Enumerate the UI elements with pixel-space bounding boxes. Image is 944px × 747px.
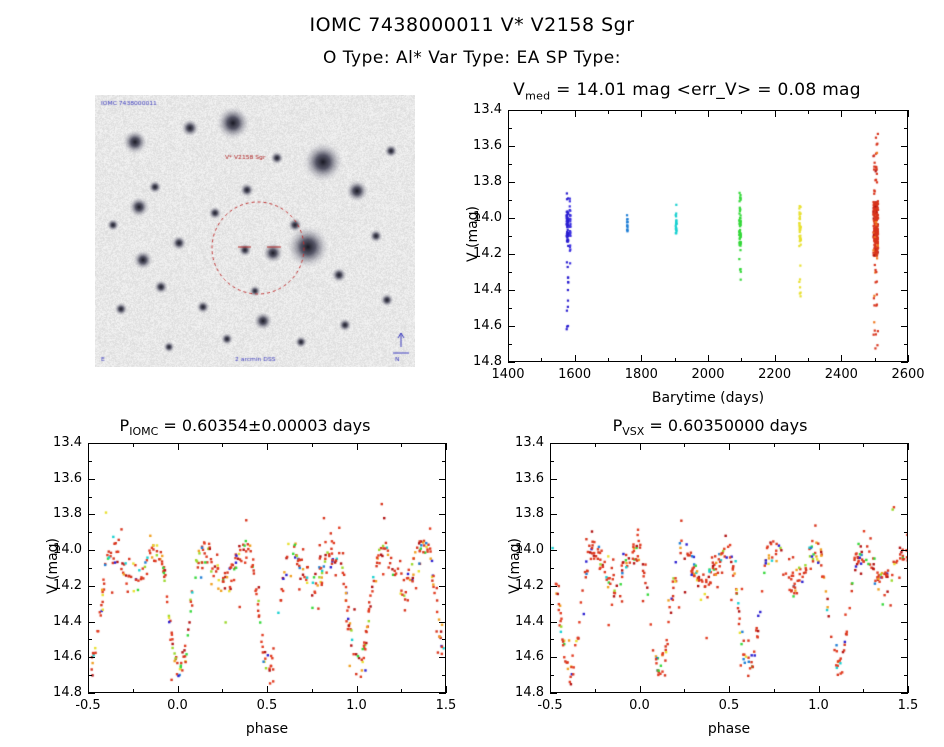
x-tick (88, 686, 89, 693)
x-tick-label: 2600 (878, 367, 938, 382)
y-minor-tick (550, 639, 554, 640)
phase-vsx-plot (550, 443, 908, 693)
y-tick (439, 550, 446, 551)
y-tick (901, 514, 908, 515)
y-tick (901, 693, 908, 694)
lightcurve-plot (508, 110, 908, 362)
y-tick-label: 14.6 (502, 649, 544, 664)
y-minor-tick (508, 344, 512, 345)
x-minor-tick (675, 110, 676, 114)
x-tick (446, 686, 447, 693)
y-tick (439, 479, 446, 480)
y-minor-tick (904, 236, 908, 237)
y-tick (88, 479, 95, 480)
x-minor-tick (675, 358, 676, 362)
x-minor-tick (595, 689, 596, 693)
x-tick (641, 110, 642, 117)
y-tick (901, 443, 908, 444)
y-tick (550, 657, 557, 658)
y-minor-tick (442, 497, 446, 498)
x-tick (775, 355, 776, 362)
y-minor-tick (904, 461, 908, 462)
y-tick-label: 14.6 (40, 649, 82, 664)
y-tick (439, 693, 446, 694)
y-tick (901, 254, 908, 255)
x-minor-tick (312, 689, 313, 693)
y-tick (901, 326, 908, 327)
y-minor-tick (904, 308, 908, 309)
x-tick (640, 686, 641, 693)
y-tick-label: 14.8 (460, 354, 502, 369)
x-tick (729, 686, 730, 693)
vmed-subscript: med (525, 89, 550, 102)
y-tick (901, 362, 908, 363)
x-axis-label: Barytime (days) (508, 390, 908, 406)
x-minor-tick (863, 689, 864, 693)
y-minor-tick (550, 497, 554, 498)
y-tick (508, 182, 515, 183)
x-tick (178, 443, 179, 450)
y-minor-tick (88, 568, 92, 569)
y-minor-tick (508, 272, 512, 273)
x-tick-label: 2000 (678, 367, 738, 382)
x-minor-tick (684, 443, 685, 447)
y-tick-label: 13.4 (460, 102, 502, 117)
y-minor-tick (904, 344, 908, 345)
y-minor-tick (442, 532, 446, 533)
period-iomc-value: = 0.60354±0.00003 days (158, 416, 370, 435)
x-tick (575, 110, 576, 117)
y-tick (550, 586, 557, 587)
y-tick-label: 13.6 (460, 138, 502, 153)
x-tick (908, 686, 909, 693)
y-tick (901, 657, 908, 658)
period-iomc-subscript: IOMC (129, 425, 158, 438)
y-tick (439, 586, 446, 587)
vmed-prefix: V (513, 80, 525, 100)
y-tick (901, 110, 908, 111)
period-iomc-prefix: P (120, 416, 130, 435)
y-tick-label: 13.6 (502, 471, 544, 486)
y-tick (88, 443, 95, 444)
y-minor-tick (442, 604, 446, 605)
y-minor-tick (550, 675, 554, 676)
y-minor-tick (904, 164, 908, 165)
page-title: IOMC 7438000011 V* V2158 Sgr (0, 14, 944, 36)
y-tick (439, 657, 446, 658)
page-subtitle: O Type: Al* Var Type: EA SP Type: (0, 48, 944, 68)
x-tick-label: 0.5 (699, 698, 759, 713)
x-tick (640, 443, 641, 450)
phase-iomc-plot (88, 443, 446, 693)
x-tick-label: 1400 (478, 367, 538, 382)
y-minor-tick (904, 497, 908, 498)
y-minor-tick (442, 461, 446, 462)
x-minor-tick (133, 689, 134, 693)
lightcurve-points (509, 111, 908, 362)
y-minor-tick (904, 532, 908, 533)
x-minor-tick (541, 110, 542, 114)
x-tick (550, 686, 551, 693)
y-tick (88, 550, 95, 551)
finder-chart (95, 95, 415, 367)
y-tick (88, 693, 95, 694)
x-minor-tick (133, 443, 134, 447)
y-tick (508, 110, 515, 111)
x-tick (908, 110, 909, 117)
x-tick-label: 1.5 (416, 698, 476, 713)
x-tick (841, 110, 842, 117)
x-tick-label: 0.0 (610, 698, 670, 713)
x-minor-tick (541, 358, 542, 362)
x-tick (88, 443, 89, 450)
y-tick (508, 326, 515, 327)
x-tick (841, 355, 842, 362)
y-tick-label: 13.6 (40, 471, 82, 486)
x-tick (267, 686, 268, 693)
phase-vsx-title: PVSX = 0.60350000 days (510, 416, 910, 438)
x-tick (775, 110, 776, 117)
x-minor-tick (222, 443, 223, 447)
x-tick-label: 0.0 (148, 698, 208, 713)
x-tick (267, 443, 268, 450)
x-minor-tick (401, 443, 402, 447)
x-tick (908, 355, 909, 362)
y-tick (508, 146, 515, 147)
x-tick (357, 443, 358, 450)
y-minor-tick (88, 461, 92, 462)
y-minor-tick (88, 639, 92, 640)
y-minor-tick (88, 497, 92, 498)
y-tick (88, 657, 95, 658)
y-minor-tick (904, 272, 908, 273)
x-minor-tick (875, 110, 876, 114)
x-tick (508, 355, 509, 362)
y-minor-tick (442, 639, 446, 640)
y-minor-tick (904, 128, 908, 129)
y-tick (901, 146, 908, 147)
vmed-rest: = 14.01 mag <err_V> = 0.08 mag (550, 80, 860, 100)
y-tick (550, 514, 557, 515)
x-axis-label: phase (88, 721, 446, 737)
x-minor-tick (774, 689, 775, 693)
y-axis-label: V (mag) (507, 506, 523, 626)
y-minor-tick (904, 568, 908, 569)
phase-iomc-title: PIOMC = 0.60354±0.00003 days (45, 416, 445, 438)
x-tick (819, 443, 820, 450)
x-tick-label: 1600 (545, 367, 605, 382)
y-tick (88, 586, 95, 587)
y-minor-tick (88, 532, 92, 533)
x-tick-label: 1.5 (878, 698, 938, 713)
phase-iomc-points (89, 444, 446, 693)
x-tick (641, 355, 642, 362)
x-tick (508, 110, 509, 117)
y-axis-label: V (mag) (465, 174, 481, 294)
x-minor-tick (741, 110, 742, 114)
x-minor-tick (863, 443, 864, 447)
y-tick (550, 622, 557, 623)
y-tick-label: 14.8 (502, 685, 544, 700)
y-tick (901, 586, 908, 587)
x-tick-label: 1.0 (327, 698, 387, 713)
phase-vsx-points (551, 444, 908, 693)
y-minor-tick (508, 200, 512, 201)
y-tick (439, 622, 446, 623)
y-tick (901, 622, 908, 623)
y-minor-tick (442, 568, 446, 569)
y-minor-tick (550, 461, 554, 462)
y-minor-tick (88, 604, 92, 605)
x-axis-label: phase (550, 721, 908, 737)
period-vsx-value: = 0.60350000 days (644, 416, 807, 435)
y-tick-label: 13.4 (502, 435, 544, 450)
x-minor-tick (608, 110, 609, 114)
y-minor-tick (904, 604, 908, 605)
y-minor-tick (904, 200, 908, 201)
x-minor-tick (741, 358, 742, 362)
x-tick (819, 686, 820, 693)
x-tick (729, 443, 730, 450)
y-tick (901, 479, 908, 480)
x-minor-tick (774, 443, 775, 447)
y-minor-tick (88, 675, 92, 676)
vmed-label: Vmed = 14.01 mag <err_V> = 0.08 mag (430, 80, 944, 102)
y-minor-tick (904, 675, 908, 676)
y-minor-tick (508, 236, 512, 237)
y-tick-label: 14.6 (460, 318, 502, 333)
y-tick (508, 362, 515, 363)
x-minor-tick (875, 358, 876, 362)
x-tick (575, 355, 576, 362)
x-tick (708, 355, 709, 362)
x-minor-tick (401, 689, 402, 693)
period-vsx-subscript: VSX (622, 425, 644, 438)
x-minor-tick (608, 358, 609, 362)
x-tick-label: -0.5 (520, 698, 580, 713)
y-tick (550, 693, 557, 694)
y-minor-tick (508, 164, 512, 165)
x-tick-label: 1800 (611, 367, 671, 382)
y-tick (550, 443, 557, 444)
y-tick (508, 290, 515, 291)
y-minor-tick (904, 639, 908, 640)
y-tick (901, 290, 908, 291)
x-tick-label: 2200 (745, 367, 805, 382)
y-tick (550, 550, 557, 551)
x-minor-tick (808, 358, 809, 362)
y-tick (88, 622, 95, 623)
x-tick (550, 443, 551, 450)
y-tick-label: 13.4 (40, 435, 82, 450)
x-tick-label: -0.5 (58, 698, 118, 713)
y-tick (439, 443, 446, 444)
y-tick (439, 514, 446, 515)
y-tick (901, 182, 908, 183)
x-tick (446, 443, 447, 450)
x-minor-tick (808, 110, 809, 114)
x-tick (178, 686, 179, 693)
y-minor-tick (550, 532, 554, 533)
y-minor-tick (508, 128, 512, 129)
y-tick (508, 218, 515, 219)
period-vsx-prefix: P (613, 416, 623, 435)
y-minor-tick (442, 675, 446, 676)
y-minor-tick (508, 308, 512, 309)
x-minor-tick (312, 443, 313, 447)
x-tick-label: 1.0 (789, 698, 849, 713)
x-minor-tick (222, 689, 223, 693)
y-tick (901, 550, 908, 551)
x-tick (708, 110, 709, 117)
y-minor-tick (550, 604, 554, 605)
y-minor-tick (550, 568, 554, 569)
x-tick-label: 2400 (811, 367, 871, 382)
finder-chart-image (95, 95, 415, 367)
y-axis-label: V (mag) (45, 506, 61, 626)
y-tick (550, 479, 557, 480)
y-tick (508, 254, 515, 255)
y-tick (901, 218, 908, 219)
x-minor-tick (684, 689, 685, 693)
y-tick-label: 14.8 (40, 685, 82, 700)
x-tick (908, 443, 909, 450)
x-minor-tick (595, 443, 596, 447)
y-tick (88, 514, 95, 515)
x-tick-label: 0.5 (237, 698, 297, 713)
x-tick (357, 686, 358, 693)
